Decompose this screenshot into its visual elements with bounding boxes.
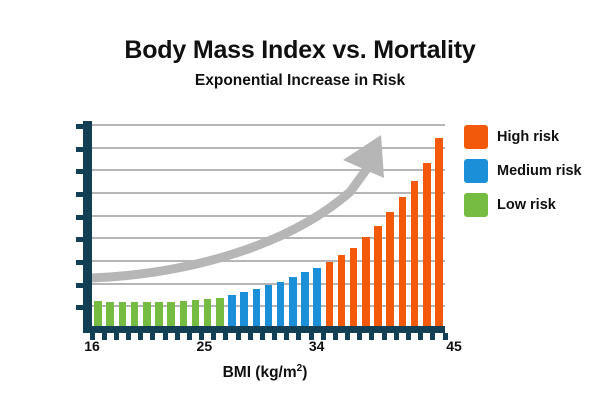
- bar: [313, 268, 321, 328]
- bar: [435, 138, 443, 328]
- x-axis-tick-label: 34: [297, 338, 337, 354]
- x-axis-tick-label: 45: [434, 338, 474, 354]
- legend-item[interactable]: High risk: [464, 120, 596, 154]
- x-axis-tick: [126, 333, 131, 340]
- x-axis-tick: [272, 333, 277, 340]
- page-title: Body Mass Index vs. Mortality: [0, 36, 600, 65]
- legend: High riskMedium riskLow risk: [464, 120, 596, 222]
- bar: [423, 163, 431, 328]
- legend-swatch-icon: [464, 125, 488, 149]
- x-axis-tick: [175, 333, 180, 340]
- gridline: [92, 124, 445, 126]
- bar: [399, 197, 407, 328]
- y-axis-tick: [76, 147, 84, 152]
- y-axis-tick: [76, 169, 84, 174]
- bar: [338, 255, 346, 328]
- y-axis-tick: [76, 124, 84, 129]
- x-axis-tick: [138, 333, 143, 340]
- x-axis-tick: [284, 333, 289, 340]
- x-axis-tick: [382, 333, 387, 340]
- legend-swatch-icon: [464, 159, 488, 183]
- y-axis-tick: [76, 215, 84, 220]
- x-axis-tick: [150, 333, 155, 340]
- gridline: [92, 147, 445, 149]
- bar: [362, 237, 370, 328]
- legend-item[interactable]: Low risk: [464, 188, 596, 222]
- y-axis-tick: [76, 260, 84, 265]
- gridline: [92, 192, 445, 194]
- x-axis-tick: [236, 333, 241, 340]
- x-axis-tick: [357, 333, 362, 340]
- x-axis-tick: [260, 333, 265, 340]
- bar: [106, 302, 114, 328]
- y-axis-tick: [76, 283, 84, 288]
- x-axis-tick: [345, 333, 350, 340]
- bar: [265, 285, 273, 328]
- x-axis-label-tail: ): [302, 364, 307, 381]
- legend-label: High risk: [497, 129, 559, 145]
- x-axis-tick-label: 25: [184, 338, 224, 354]
- x-axis-label-base: BMI (kg/m: [223, 364, 297, 381]
- legend-swatch-icon: [464, 193, 488, 217]
- gridline: [92, 169, 445, 171]
- y-axis-tick: [76, 305, 84, 310]
- bar: [301, 272, 309, 328]
- x-axis-tick: [369, 333, 374, 340]
- bar: [253, 289, 261, 328]
- bar: [240, 292, 248, 328]
- bar: [277, 282, 285, 328]
- bar: [216, 298, 224, 328]
- x-axis-label: BMI (kg/m2): [85, 363, 445, 382]
- bar: [155, 302, 163, 328]
- chart-figure: Body Mass Index vs. Mortality Exponentia…: [0, 0, 600, 400]
- bar: [167, 302, 175, 328]
- x-axis-tick: [163, 333, 168, 340]
- bar: [204, 299, 212, 328]
- bar: [131, 302, 139, 328]
- bar: [289, 277, 297, 328]
- bar: [228, 295, 236, 328]
- bar: [192, 300, 200, 328]
- chart-subtitle: Exponential Increase in Risk: [0, 72, 600, 90]
- x-axis-tick: [418, 333, 423, 340]
- x-axis-tick: [406, 333, 411, 340]
- y-axis-tick: [76, 237, 84, 242]
- x-axis-tick: [394, 333, 399, 340]
- bar: [411, 181, 419, 328]
- x-axis-tick: [248, 333, 253, 340]
- legend-item[interactable]: Medium risk: [464, 154, 596, 188]
- x-axis-line: [83, 326, 445, 333]
- x-axis-tick: [114, 333, 119, 340]
- bar: [326, 262, 334, 328]
- plot-area: [92, 124, 445, 328]
- x-axis-tick-label: 16: [72, 338, 112, 354]
- bar: [180, 301, 188, 328]
- y-axis-line: [83, 121, 92, 331]
- bar: [350, 248, 358, 328]
- bar: [94, 301, 102, 328]
- bar: [143, 302, 151, 328]
- bar: [119, 302, 127, 328]
- y-axis-tick: [76, 192, 84, 197]
- bar: [386, 212, 394, 328]
- legend-label: Medium risk: [497, 163, 582, 179]
- bar: [374, 226, 382, 328]
- legend-label: Low risk: [497, 197, 556, 213]
